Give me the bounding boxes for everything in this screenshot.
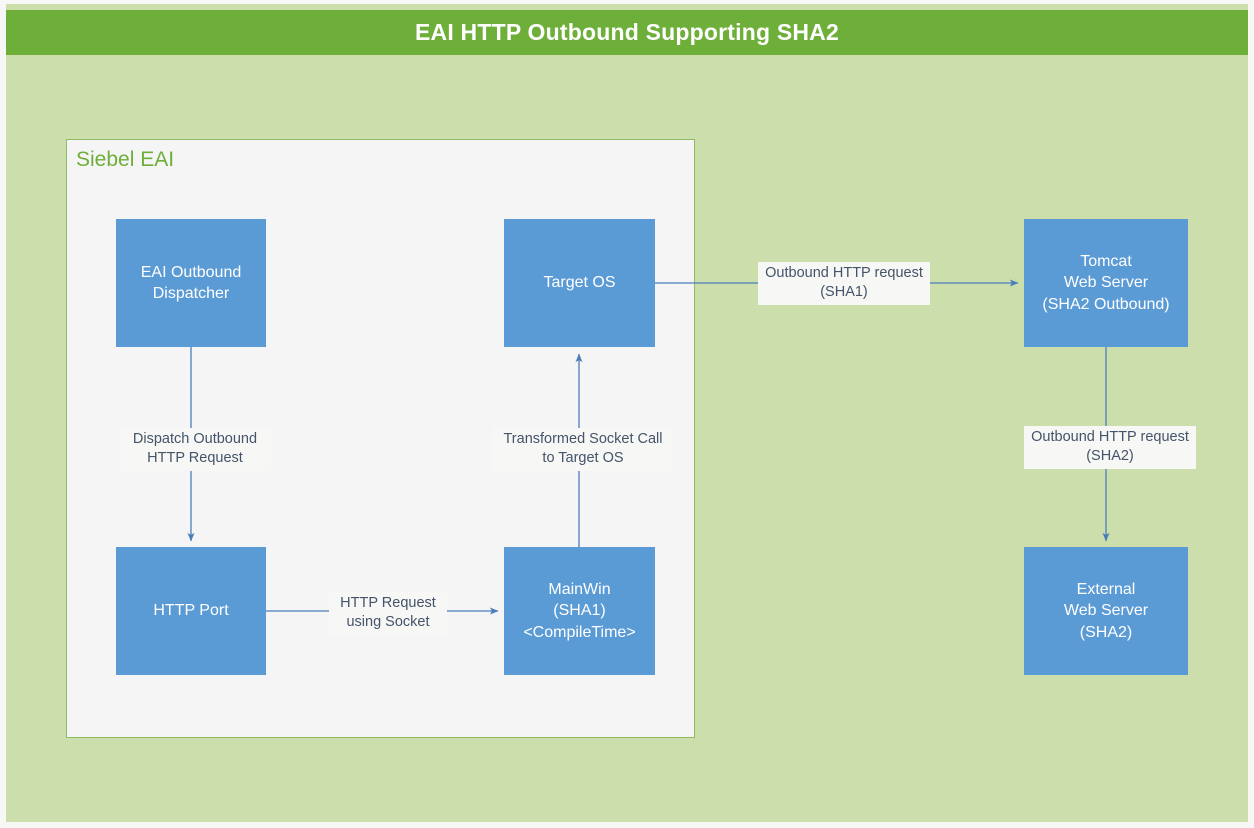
node-mainwin[interactable]: MainWin (SHA1) <CompileTime> xyxy=(504,547,655,675)
edge-label-line: Outbound HTTP request xyxy=(1028,428,1192,447)
node-line: (SHA2) xyxy=(1064,622,1148,643)
edge-label-line: Transformed Socket Call xyxy=(497,430,669,449)
node-line: (SHA1) xyxy=(523,600,635,621)
diagram-canvas: EAI HTTP Outbound Supporting SHA2 Siebel… xyxy=(0,0,1254,828)
edge-label-line: Dispatch Outbound xyxy=(123,430,267,449)
edge-label-outbound-http-request-sha2: Outbound HTTP request (SHA2) xyxy=(1024,426,1196,469)
node-line: External xyxy=(1064,579,1148,600)
node-line: Dispatcher xyxy=(141,283,242,304)
node-line: Web Server xyxy=(1064,600,1148,621)
edge-label-line: using Socket xyxy=(333,613,443,632)
node-line: Target OS xyxy=(543,272,615,293)
node-line: MainWin xyxy=(523,579,635,600)
edge-label-transformed-socket-call: Transformed Socket Call to Target OS xyxy=(493,428,673,471)
edge-label-line: HTTP Request xyxy=(333,594,443,613)
node-target-os[interactable]: Target OS xyxy=(504,219,655,347)
edge-label-dispatch-outbound-http-request: Dispatch Outbound HTTP Request xyxy=(119,428,271,471)
node-line: Tomcat xyxy=(1042,251,1169,272)
node-external-web-server[interactable]: External Web Server (SHA2) xyxy=(1024,547,1188,675)
node-line: <CompileTime> xyxy=(523,622,635,643)
edge-label-line: HTTP Request xyxy=(123,449,267,468)
node-tomcat-web-server[interactable]: Tomcat Web Server (SHA2 Outbound) xyxy=(1024,219,1188,347)
edge-label-line: (SHA2) xyxy=(1028,447,1192,466)
node-line: EAI Outbound xyxy=(141,262,242,283)
edge-label-line: (SHA1) xyxy=(762,283,926,302)
title-banner: EAI HTTP Outbound Supporting SHA2 xyxy=(6,10,1248,55)
node-line: HTTP Port xyxy=(153,600,228,621)
edge-label-line: Outbound HTTP request xyxy=(762,264,926,283)
page-title: EAI HTTP Outbound Supporting SHA2 xyxy=(415,19,839,46)
node-eai-outbound-dispatcher[interactable]: EAI Outbound Dispatcher xyxy=(116,219,266,347)
siebel-eai-label: Siebel EAI xyxy=(76,148,174,172)
edge-label-outbound-http-request-sha1: Outbound HTTP request (SHA1) xyxy=(758,262,930,305)
edge-label-http-request-using-socket: HTTP Request using Socket xyxy=(329,592,447,635)
node-line: (SHA2 Outbound) xyxy=(1042,294,1169,315)
node-http-port[interactable]: HTTP Port xyxy=(116,547,266,675)
node-line: Web Server xyxy=(1042,272,1169,293)
edge-label-line: to Target OS xyxy=(497,449,669,468)
